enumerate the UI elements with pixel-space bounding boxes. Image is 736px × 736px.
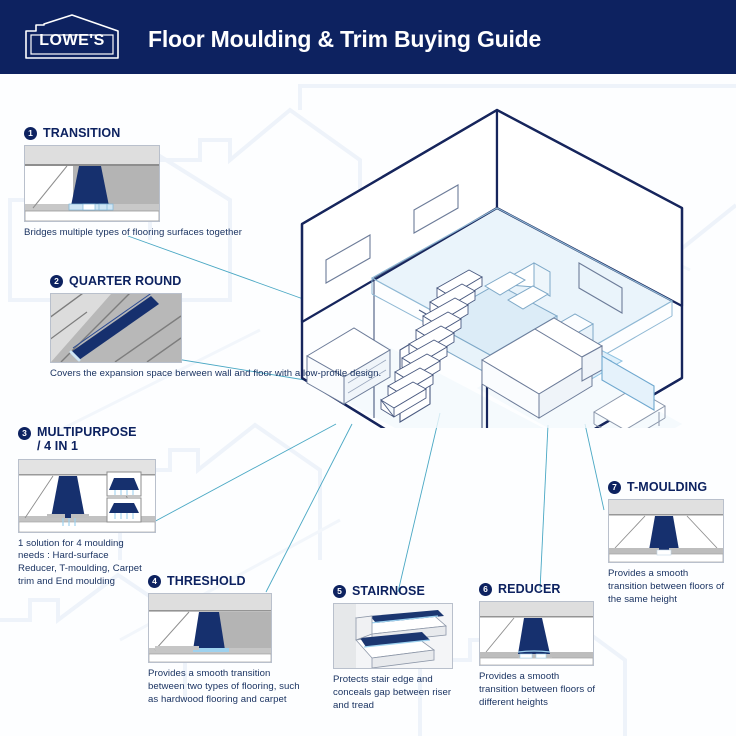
callout-multipurpose[interactable]: 3 MULTIPURPOSE / 4 IN 1 1 soluti <box>18 425 156 588</box>
t-moulding-profile-image <box>608 499 724 563</box>
callout-header: 5 STAIRNOSE <box>333 584 459 598</box>
threshold-profile-image <box>148 593 272 663</box>
stairnose-profile-image <box>333 603 453 669</box>
callout-description: Provides a smooth transition between flo… <box>608 568 726 606</box>
callout-number-badge: 3 <box>18 427 31 440</box>
reducer-profile-image <box>479 601 594 666</box>
callout-number-badge: 6 <box>479 583 492 596</box>
quarter-round-profile-image <box>50 293 182 363</box>
isometric-house-illustration <box>282 88 702 433</box>
transition-profile-image <box>24 145 160 222</box>
callout-title: MULTIPURPOSE / 4 IN 1 <box>37 425 137 454</box>
callout-header: 3 MULTIPURPOSE / 4 IN 1 <box>18 425 156 454</box>
page-title: Floor Moulding & Trim Buying Guide <box>148 22 541 53</box>
callout-description: Provides a smooth transition between two… <box>148 668 300 706</box>
callout-quarter-round[interactable]: 2 QUARTER ROUND Covers the expansion spa… <box>50 274 381 381</box>
callout-header: 1 TRANSITION <box>24 126 242 140</box>
callout-title: THRESHOLD <box>167 574 246 588</box>
callout-title: T-MOULDING <box>627 480 707 494</box>
callout-title: QUARTER ROUND <box>69 274 181 288</box>
header-bar: LOWE'S Floor Moulding & Trim Buying Guid… <box>0 0 736 74</box>
callout-title: TRANSITION <box>43 126 120 140</box>
callout-title: STAIRNOSE <box>352 584 425 598</box>
callout-header: 2 QUARTER ROUND <box>50 274 381 288</box>
callout-title-sub: / 4 IN 1 <box>37 439 137 453</box>
infographic-page: LOWE'S Floor Moulding & Trim Buying Guid… <box>0 0 736 736</box>
callout-t-moulding[interactable]: 7 T-MOULDING Provides a smooth transitio… <box>608 480 726 606</box>
callout-header: 7 T-MOULDING <box>608 480 726 494</box>
callout-header: 6 REDUCER <box>479 582 597 596</box>
callout-description: Covers the expansion space berween wall … <box>50 368 381 381</box>
callout-description: 1 solution for 4 moulding needs : Hard-s… <box>18 538 146 589</box>
callout-threshold[interactable]: 4 THRESHOLD Provides a smooth transition… <box>148 574 300 706</box>
callout-title: REDUCER <box>498 582 561 596</box>
callout-number-badge: 2 <box>50 275 63 288</box>
callout-transition[interactable]: 1 TRANSITION Bridges multiple types of f… <box>24 126 242 240</box>
callout-number-badge: 4 <box>148 575 161 588</box>
callout-description: Provides a smooth transition between flo… <box>479 671 597 709</box>
callout-description: Bridges multiple types of flooring surfa… <box>24 227 242 240</box>
callout-title-main: MULTIPURPOSE <box>37 425 137 439</box>
callout-stairnose[interactable]: 5 STAIRNOSE Protects stair edge and conc… <box>333 584 459 712</box>
callout-reducer[interactable]: 6 REDUCER Provides a smooth transition b… <box>479 582 597 709</box>
callout-number-badge: 7 <box>608 481 621 494</box>
callout-description: Protects stair edge and conceals gap bet… <box>333 674 459 712</box>
callout-number-badge: 1 <box>24 127 37 140</box>
callout-number-badge: 5 <box>333 585 346 598</box>
lowes-logo[interactable]: LOWE'S <box>22 14 122 60</box>
lowes-logo-text: LOWE'S <box>22 14 122 60</box>
callout-header: 4 THRESHOLD <box>148 574 300 588</box>
multipurpose-profile-image <box>18 459 156 533</box>
